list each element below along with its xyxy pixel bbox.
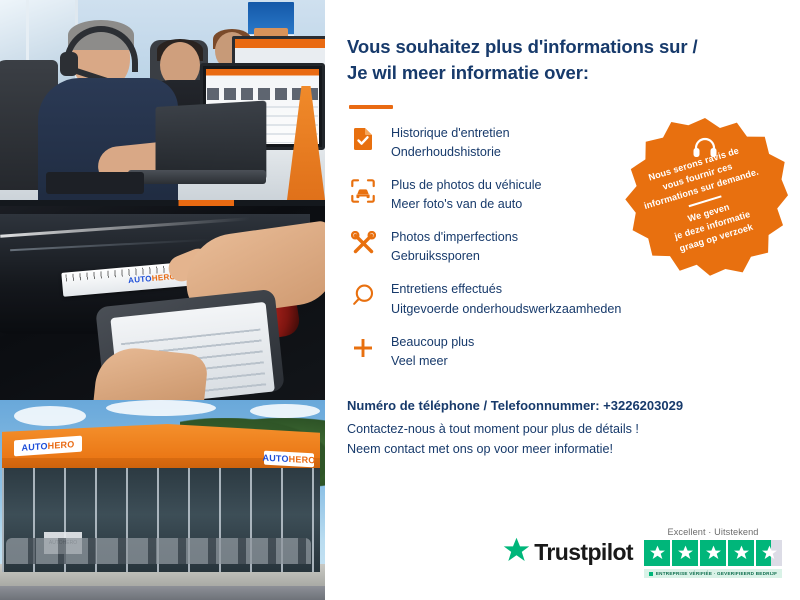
content-panel: Vous souhaitez plus d'informations sur /…: [325, 0, 800, 600]
feature-label-nl: Gebruikssporen: [391, 247, 518, 266]
trustpilot-rating-block: Excellent · Uitstekend: [644, 527, 782, 578]
car-photo-frame-icon: [349, 175, 377, 205]
title-divider: [349, 105, 393, 109]
feature-label: Historique d'entretien Onderhoudshistori…: [391, 123, 510, 162]
trustpilot-caption: Excellent · Uitstekend: [667, 527, 758, 537]
feature-item-performed-maintenance: Entretiens effectués Uitgevoerde onderho…: [347, 279, 782, 318]
verified-text: ENTREPRISE VÉRIFIÉE · GEVERIFIEERD BEDRI…: [656, 571, 777, 576]
autohero-info-panel: AUTOHERO: [0, 0, 800, 600]
trustpilot-star-icon: [503, 537, 530, 568]
feature-label: Beaucoup plus Veel meer: [391, 332, 474, 371]
photo-column: AUTOHERO: [0, 0, 325, 600]
star-filled: [700, 540, 726, 566]
feature-label-nl: Meer foto's van de auto: [391, 195, 542, 214]
document-check-icon: [349, 123, 377, 153]
feature-label-nl: Onderhoudshistorie: [391, 143, 510, 162]
tools-cross-icon: [349, 227, 377, 257]
feature-label-fr: Photos d'imperfections: [391, 230, 518, 244]
page-title-nl: Je wil meer informatie over:: [347, 60, 782, 86]
trustpilot-widget[interactable]: Trustpilot Excellent · Uitstekend: [503, 527, 782, 578]
contact-line-nl: Neem contact met ons op voor meer inform…: [347, 440, 782, 460]
page-title: Vous souhaitez plus d'informations sur /…: [347, 34, 782, 87]
trustpilot-verified-badge: ENTREPRISE VÉRIFIÉE · GEVERIFIEERD BEDRI…: [644, 569, 782, 578]
feature-label-fr: Beaucoup plus: [391, 335, 474, 349]
vehicle-inspection-photo: AUTOHERO: [0, 200, 325, 400]
feature-item-imperfection-photos: Photos d'imperfections Gebruikssporen: [347, 227, 782, 266]
feature-item-maintenance-history: Historique d'entretien Onderhoudshistori…: [347, 123, 782, 162]
star-filled: [644, 540, 670, 566]
trustpilot-name: Trustpilot: [534, 539, 633, 566]
feature-label-fr: Historique d'entretien: [391, 126, 510, 140]
feature-label: Plus de photos du véhicule Meer foto's v…: [391, 175, 542, 214]
feature-label-fr: Entretiens effectués: [391, 282, 502, 296]
feature-item-vehicle-photos: Plus de photos du véhicule Meer foto's v…: [347, 175, 782, 214]
star-partial: [756, 540, 782, 566]
star-filled: [672, 540, 698, 566]
feature-list: Historique d'entretien Onderhoudshistori…: [347, 123, 782, 371]
call-center-agents-photo: [0, 0, 325, 200]
contact-line-fr: Contactez-nous à tout moment pour plus d…: [347, 420, 782, 440]
verified-check-icon: [649, 572, 653, 576]
page-title-fr: Vous souhaitez plus d'informations sur /: [347, 34, 782, 60]
feature-label-nl: Veel meer: [391, 352, 474, 371]
plus-icon: [349, 332, 377, 362]
feature-item-much-more: Beaucoup plus Veel meer: [347, 332, 782, 371]
feature-label: Photos d'imperfections Gebruikssporen: [391, 227, 518, 266]
autohero-sign-right: AUTOHERO: [264, 451, 314, 468]
trustpilot-stars: [644, 540, 782, 566]
feature-label-fr: Plus de photos du véhicule: [391, 178, 542, 192]
contact-block: Numéro de téléphone / Telefoonnummer: +3…: [347, 398, 782, 460]
feature-label-nl: Uitgevoerde onderhoudswerkzaamheden: [391, 300, 621, 319]
phone-number-label[interactable]: Numéro de téléphone / Telefoonnummer: +3…: [347, 398, 782, 413]
autohero-dealership-photo: AUTOHERO AUTOHERO AUTOHERO: [0, 400, 325, 600]
trustpilot-brand: Trustpilot: [503, 537, 633, 568]
feature-label: Entretiens effectués Uitgevoerde onderho…: [391, 279, 621, 318]
star-filled: [728, 540, 754, 566]
magnifier-icon: [349, 279, 377, 309]
